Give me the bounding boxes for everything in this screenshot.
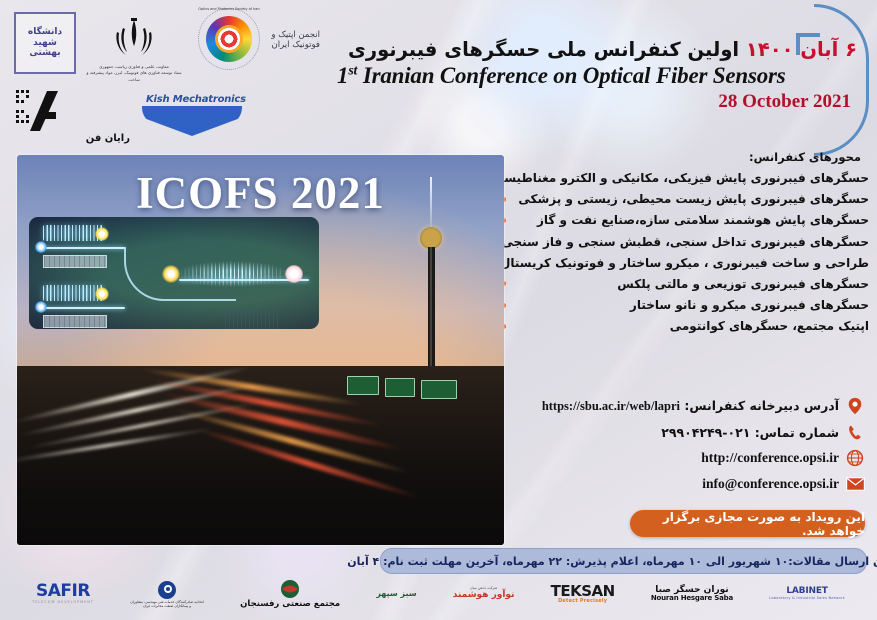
- topic-label: حسگرهای پایش هوشمند سلامتی سازه،صنایع نف…: [512, 213, 869, 227]
- rayan-fan-logo: رایان فن: [12, 86, 132, 142]
- glow-dot: [95, 227, 109, 241]
- kish-mechatronics-label: Kish Mechatronics: [146, 94, 246, 105]
- headline-english-date: 28 October 2021: [337, 91, 857, 113]
- sponsor-nouran-hesgare-saba: نوران حسگر صبا Nouran Hesgare Saba: [651, 586, 733, 603]
- topic-item: حسگرهای فیبرنوری تداخل سنجی، قطبش سنجی و…: [501, 235, 869, 249]
- topic-item: حسگرهای پایش هوشمند سلامتی سازه،صنایع نف…: [501, 213, 869, 227]
- fiber-coil-icon: [43, 285, 103, 301]
- topics-heading: محورهای کنفرانس:: [501, 150, 861, 164]
- headline-persian-title: اولین کنفرانس ملی حسگرهای فیبرنوری: [348, 38, 739, 61]
- road-sign: [421, 380, 457, 399]
- contact-phone-value[interactable]: ۰۲۱-۲۹۹۰۴۲۴۹: [661, 425, 750, 440]
- kish-mechatronics-logo: Kish Mechatronics: [140, 92, 250, 138]
- topic-label: اپتیک مجتمع، حسگرهای کوانتومی: [512, 319, 869, 333]
- sponsor-ettehadiye-subtitle: اتحادیه صادرکنندگان خدمات فنی مهندسی، مش…: [130, 601, 204, 608]
- rafsanjan-mark-icon: [280, 579, 300, 599]
- contact-email-value[interactable]: info@conference.opsi.ir: [505, 476, 839, 492]
- road-sign: [347, 376, 379, 395]
- ettehadiye-mark-icon: [157, 580, 177, 600]
- sponsor-ettehadiye-saderkonandegan: اتحادیه صادرکنندگان خدمات فنی مهندسی، مش…: [130, 580, 204, 608]
- virtual-event-label: این رویداد به صورت مجازی برگزار خواهد شد…: [630, 510, 865, 538]
- sponsor-sabz-sepehr: سبز سپهر: [376, 590, 416, 598]
- headline-english: 1st Iranian Conference on Optical Fiber …: [337, 63, 857, 89]
- highway-night-scene: [17, 366, 504, 545]
- contact-address-label: آدرس دبیرخانه کنفرانس:: [684, 398, 839, 413]
- waveguide: [37, 307, 125, 309]
- headline-english-title: Iranian Conference on Optical Fiber Sens…: [363, 63, 786, 88]
- headline-english-ordinal: 1: [337, 63, 348, 88]
- top-logo-strip: دانشگاه شهید بهشتی معاونت علمی و فناوری …: [0, 0, 340, 150]
- sponsor-strip: LABINET Laboratory & Industrial Sales Ne…: [0, 568, 877, 620]
- topic-label: حسگرهای فیبرنوری پایش فیزیکی، مکانیکی و …: [488, 171, 869, 185]
- sponsor-teksan-name: TEKSAN: [551, 584, 615, 600]
- headline-block: ۶ آبان ۱۴۰۰ اولین کنفرانس ملی حسگرهای فی…: [337, 38, 857, 113]
- sponsor-labinet-subtitle: Laboratory & Industrial Sales Network: [769, 597, 845, 601]
- optics-photonics-society-logo: Optics and Photonics Society of Iran: [198, 8, 260, 70]
- interference-waveform: [177, 261, 289, 287]
- sponsor-majtame-sanati-rafsanjan: مجتمع صنعتی رفسنجان: [240, 579, 340, 609]
- sbu-logo-text: دانشگاه شهید بهشتی: [16, 27, 74, 58]
- light-source-dot: [35, 241, 47, 253]
- topic-item: حسگرهای فیبرنوری توزیعی و مالتی پلکس: [501, 277, 869, 291]
- iran-emblem-icon: [110, 16, 158, 62]
- detector-dot: [285, 265, 303, 283]
- headline-english-ordinal-suffix: st: [348, 64, 357, 79]
- contact-row-website: http://conference.opsi.ir: [505, 448, 865, 468]
- topic-item: طراحی و ساخت فیبرنوری ، میکرو ساختار و ف…: [501, 256, 869, 270]
- sponsor-labinet: LABINET Laboratory & Industrial Sales Ne…: [769, 587, 845, 600]
- bragg-grating-icon: [43, 315, 107, 328]
- vice-presidency-caption: معاونت علمی و فناوری ریاست جمهوریستاد تو…: [84, 64, 184, 83]
- sponsor-teksan-tagline: Detect Precisely: [558, 599, 607, 604]
- location-pin-icon: [845, 396, 865, 416]
- fiber-coil-icon: [43, 225, 103, 241]
- kish-mechatronics-swoosh-icon: [142, 106, 242, 136]
- sponsor-noavar-name: نوآور هوشمند: [453, 591, 515, 600]
- topic-item: اپتیک مجتمع، حسگرهای کوانتومی: [501, 319, 869, 333]
- bragg-grating-icon: [43, 255, 107, 268]
- topic-label: حسگرهای فیبرنوری توزیعی و مالتی پلکس: [512, 277, 869, 291]
- glow-dot: [162, 265, 180, 283]
- shahid-beheshti-university-logo: دانشگاه شهید بهشتی: [14, 12, 76, 74]
- sponsor-majtame-name: مجتمع صنعتی رفسنجان: [240, 600, 340, 609]
- headline-persian: ۶ آبان ۱۴۰۰ اولین کنفرانس ملی حسگرهای فی…: [337, 38, 857, 62]
- contact-address-value[interactable]: https://sbu.ac.ir/web/lapri: [542, 399, 680, 414]
- topic-item: حسگرهای فیبرنوری پایش فیزیکی، مکانیکی و …: [501, 171, 869, 185]
- topic-label: طراحی و ساخت فیبرنوری ، میکرو ساختار و ف…: [496, 256, 869, 270]
- fiber-sensor-diagram: [29, 217, 319, 329]
- virtual-event-notice: این رویداد به صورت مجازی برگزار خواهد شد…: [630, 510, 865, 537]
- sponsor-noavar-hooshmand: شرکت دانش بنیان نوآور هوشمند: [453, 587, 515, 600]
- contact-row-phone: شماره تماس: ۰۲۱-۲۹۹۰۴۲۴۹: [505, 422, 865, 442]
- anjoman-optic-photonic-logo: انجمن اپتیک و فوتونیک ایران: [258, 14, 320, 66]
- road-sign: [385, 378, 415, 397]
- topic-label: حسگرهای فیبرنوری تداخل سنجی، قطبش سنجی و…: [497, 235, 869, 249]
- contact-phone-text: شماره تماس: ۰۲۱-۲۹۹۰۴۲۴۹: [505, 425, 839, 440]
- topics-list: محورهای کنفرانس: حسگرهای فیبرنوری پایش ف…: [501, 150, 869, 341]
- conference-poster: دانشگاه شهید بهشتی معاونت علمی و فناوری …: [0, 0, 877, 620]
- light-trail: [191, 425, 422, 501]
- sponsor-safir-subtitle: TELECOM DEVELOPMENT: [32, 601, 94, 605]
- glow-dot: [95, 287, 109, 301]
- topic-item: حسگرهای فیبرنوری پایش زیست محیطی، زیستی …: [501, 192, 869, 206]
- phone-icon: [845, 422, 865, 442]
- sponsor-nouran-name-en: Nouran Hesgare Saba: [651, 595, 733, 602]
- contact-address-text: آدرس دبیرخانه کنفرانس: https://sbu.ac.ir…: [505, 398, 839, 414]
- sponsor-sabz-name: سبز سپهر: [376, 590, 416, 598]
- sponsor-safir-name: SAFIR: [36, 583, 90, 601]
- light-source-dot: [35, 301, 47, 313]
- topic-label: حسگرهای فیبرنوری میکرو و نانو ساختار: [512, 298, 869, 312]
- waveguide: [37, 247, 125, 249]
- tower-spire: [430, 177, 432, 229]
- contact-row-address: آدرس دبیرخانه کنفرانس: https://sbu.ac.ir…: [505, 396, 865, 416]
- deadlines-text: زمان ارسال مقالات:۱۰ شهریور الی ۱۰ مهرما…: [347, 555, 877, 568]
- contact-block: آدرس دبیرخانه کنفرانس: https://sbu.ac.ir…: [505, 396, 865, 500]
- headline-persian-date: ۶ آبان ۱۴۰۰: [746, 38, 857, 61]
- contact-phone-label: شماره تماس:: [755, 425, 839, 440]
- anjoman-logo-text: انجمن اپتیک و فوتونیک ایران: [258, 30, 320, 50]
- sponsor-safir: SAFIR TELECOM DEVELOPMENT: [32, 583, 94, 604]
- rayan-fan-label: رایان فن: [86, 133, 130, 144]
- sponsor-teksan: TEKSAN Detect Precisely: [551, 584, 615, 605]
- hero-photo: ICOFS 2021: [17, 155, 504, 545]
- caliper-icon: [225, 307, 281, 329]
- contact-row-email: info@conference.opsi.ir: [505, 474, 865, 494]
- opsi-logo-rainbow-ring: [206, 16, 252, 62]
- tower-head: [420, 227, 442, 249]
- rayan-fan-mark-icon: [14, 88, 62, 134]
- globe-icon: [845, 448, 865, 468]
- topic-item: حسگرهای فیبرنوری میکرو و نانو ساختار: [501, 298, 869, 312]
- topic-label: حسگرهای فیبرنوری پایش زیست محیطی، زیستی …: [512, 192, 869, 206]
- contact-website-value[interactable]: http://conference.opsi.ir: [505, 450, 839, 466]
- envelope-icon: [845, 474, 865, 494]
